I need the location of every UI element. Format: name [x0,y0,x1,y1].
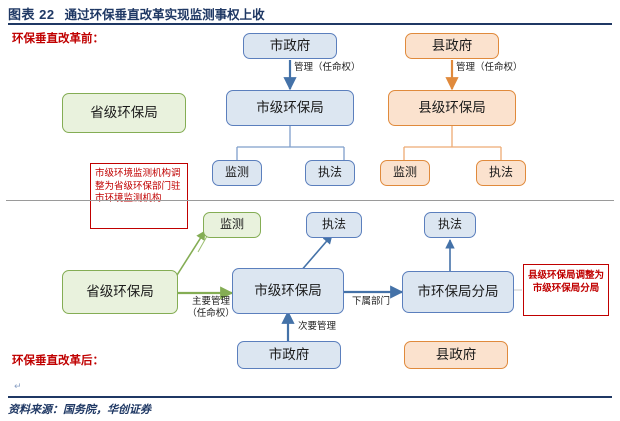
edge-label-secondary-manage: 次要管理 [298,321,336,333]
annotation-county-to-branch: 县级环保局调整为市级环保局分局 [523,264,609,316]
edge-city-bureau-to-children [237,126,344,160]
page-title: 通过环保垂直改革实现监测事权上收 [65,4,265,23]
footer-rule [8,396,612,398]
node-province-bureau-before[interactable]: 省级环保局 [62,93,186,133]
edge-label-primary-manage-line2: （任命权） [187,308,235,319]
edge-label-county-manage-before: 管理（任命权） [456,62,523,74]
node-city-government-before[interactable]: 市政府 [243,33,337,59]
node-county-monitor-before[interactable]: 监测 [380,160,430,186]
edge-label-subordinate: 下属部门 [352,296,390,308]
node-city-enforce-before[interactable]: 执法 [305,160,355,186]
node-monitor-after[interactable]: 监测 [203,212,261,238]
node-county-bureau-before[interactable]: 县级环保局 [388,90,516,126]
edge-label-primary-manage: 主要管理 （任命权） [180,296,242,320]
node-enforce-branch-after[interactable]: 执法 [424,212,476,238]
before-section-caption: 环保垂直改革前： [12,30,104,46]
figure-number: 图表 22 [8,4,55,23]
node-city-bureau-after[interactable]: 市级环保局 [232,268,344,314]
node-county-enforce-before[interactable]: 执法 [476,160,526,186]
node-city-government-after[interactable]: 市政府 [237,341,341,369]
node-enforce-city-after[interactable]: 执法 [306,212,362,238]
node-city-bureau-before[interactable]: 市级环保局 [226,90,354,126]
paragraph-mark: ↵ [14,381,22,392]
source-note: 资料来源：国务院，华创证券 [8,401,151,417]
after-section-caption: 环保垂直改革后： [12,352,104,368]
node-county-government-before[interactable]: 县政府 [405,33,499,59]
title-underline [8,23,612,25]
annotation-monitor-transfer: 市级环境监测机构调整为省级环保部门驻市环境监测机构 [90,163,188,229]
node-county-government-after[interactable]: 县政府 [404,341,508,369]
section-divider [6,200,614,201]
node-province-bureau-after[interactable]: 省级环保局 [62,270,178,314]
node-city-monitor-before[interactable]: 监测 [212,160,262,186]
edge-county-bureau-to-children [404,126,501,160]
figure-container: 图表 22 通过环保垂直改革实现监测事权上收 [0,0,620,421]
edge-label-primary-manage-line1: 主要管理 [192,296,230,307]
edge-city-bureau-to-enforce [300,235,332,272]
figure-title-row: 图表 22 通过环保垂直改革实现监测事权上收 [8,3,612,23]
node-branch-bureau-after[interactable]: 市环保局分局 [402,271,514,313]
edge-label-city-manage-before: 管理（任命权） [294,62,361,74]
